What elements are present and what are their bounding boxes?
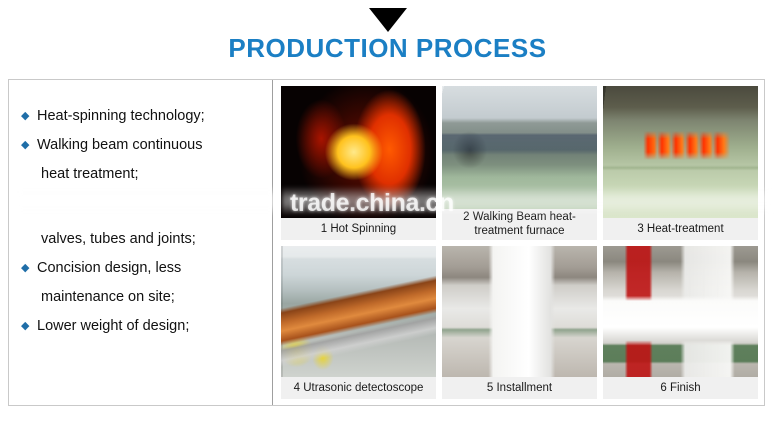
bullet-spacer: ◆ [21, 283, 34, 312]
gallery-cell[interactable]: 1 Hot Spinning [281, 86, 436, 240]
features-column: ◆Heat-spinning technology;◆Walking beam … [9, 80, 273, 405]
gallery-cell[interactable]: 5 Installment [442, 246, 597, 400]
gallery-row: 4 Utrasonic detectoscope5 Installment6 F… [281, 246, 758, 400]
page-title: PRODUCTION PROCESS [0, 33, 775, 64]
hot-spinning-photo-image [281, 86, 436, 218]
feature-item-label: valves, tubes and joints; [37, 225, 262, 254]
gallery-caption: 4 Utrasonic detectoscope [281, 377, 436, 399]
gallery-cell[interactable]: 3 Heat-treatment [603, 86, 758, 240]
diamond-bullet-icon: ◆ [21, 131, 34, 160]
diamond-bullet-icon: ◆ [21, 312, 34, 341]
production-process-panel: ◆Heat-spinning technology;◆Walking beam … [8, 79, 765, 406]
bullet-spacer: ◆ [21, 225, 34, 254]
feature-list: ◆Heat-spinning technology;◆Walking beam … [21, 102, 262, 341]
finish-photo-image [603, 246, 758, 378]
installment-photo[interactable] [442, 246, 597, 378]
feature-item-label: Lower weight of design; [37, 312, 262, 341]
feature-item: ◆Walking beam continuous [21, 131, 262, 160]
gallery-caption: 5 Installment [442, 377, 597, 399]
feature-item-label: heat treatment; [37, 160, 262, 189]
gallery-caption: 1 Hot Spinning [281, 218, 436, 240]
feature-item: ◆ [21, 189, 262, 207]
bullet-spacer: ◆ [21, 160, 34, 189]
ultrasonic-detectoscope-photo[interactable] [281, 246, 436, 378]
feature-item: ◆Heat-spinning technology; [21, 102, 262, 131]
feature-item: ◆Lower weight of design; [21, 312, 262, 341]
walking-beam-furnace-photo-image [442, 86, 597, 209]
diamond-bullet-icon: ◆ [21, 102, 34, 131]
feature-item: ◆maintenance on site; [21, 283, 262, 312]
triangle-down-icon [369, 8, 407, 32]
installment-photo-image [442, 246, 597, 378]
walking-beam-furnace-photo[interactable] [442, 86, 597, 209]
feature-item-label: maintenance on site; [37, 283, 262, 312]
gallery-cell[interactable]: 6 Finish [603, 246, 758, 400]
process-gallery: 1 Hot Spinning2 Walking Beam heat-treatm… [273, 80, 764, 405]
gallery-cell[interactable]: 2 Walking Beam heat-treatment furnace [442, 86, 597, 240]
feature-item: ◆heat treatment; [21, 160, 262, 189]
feature-item-label: Walking beam continuous [37, 131, 262, 160]
heat-treatment-photo[interactable] [603, 86, 758, 218]
finish-photo[interactable] [603, 246, 758, 378]
feature-item: ◆ [21, 207, 262, 225]
heat-treatment-photo-image [603, 86, 758, 218]
gallery-row: 1 Hot Spinning2 Walking Beam heat-treatm… [281, 86, 758, 240]
feature-item-label: Concision design, less [37, 254, 262, 283]
diamond-bullet-icon: ◆ [21, 254, 34, 283]
hot-spinning-photo[interactable] [281, 86, 436, 218]
page-header: PRODUCTION PROCESS [0, 0, 775, 72]
gallery-caption: 6 Finish [603, 377, 758, 399]
feature-item: ◆valves, tubes and joints; [21, 225, 262, 254]
feature-item-label: Heat-spinning technology; [37, 102, 262, 131]
feature-item: ◆Concision design, less [21, 254, 262, 283]
gallery-caption: 2 Walking Beam heat-treatment furnace [442, 209, 597, 240]
gallery-grid: 1 Hot Spinning2 Walking Beam heat-treatm… [281, 86, 758, 399]
ultrasonic-detectoscope-photo-image [281, 246, 436, 378]
gallery-caption: 3 Heat-treatment [603, 218, 758, 240]
gallery-cell[interactable]: 4 Utrasonic detectoscope [281, 246, 436, 400]
